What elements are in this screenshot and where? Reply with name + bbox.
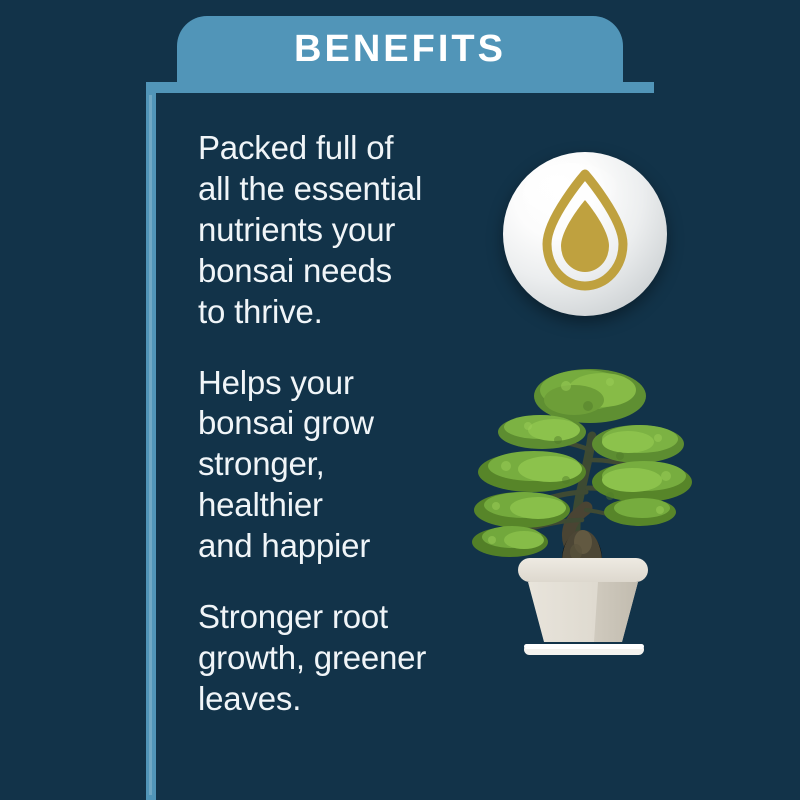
droplet-badge <box>503 152 667 316</box>
benefit-item-growth: Helps your bonsai grow stronger, healthi… <box>198 363 508 568</box>
benefit-item-roots: Stronger root growth, greener leaves. <box>198 597 508 720</box>
bonsai-illustration <box>470 360 695 660</box>
bonsai-foliage <box>472 369 692 557</box>
droplet-icon <box>503 152 667 316</box>
banner-crossbar <box>146 82 654 93</box>
page-title: BENEFITS <box>177 16 623 82</box>
benefit-item-nutrients: Packed full of all the essential nutrien… <box>198 128 508 333</box>
benefits-infographic: BENEFITS Packed full of all the essentia… <box>0 0 800 800</box>
left-vertical-rule-highlight <box>149 95 152 795</box>
header-banner: BENEFITS <box>0 0 800 112</box>
bonsai-pot <box>518 558 648 655</box>
bonsai-tree-icon <box>470 360 695 660</box>
benefits-list: Packed full of all the essential nutrien… <box>198 128 508 720</box>
